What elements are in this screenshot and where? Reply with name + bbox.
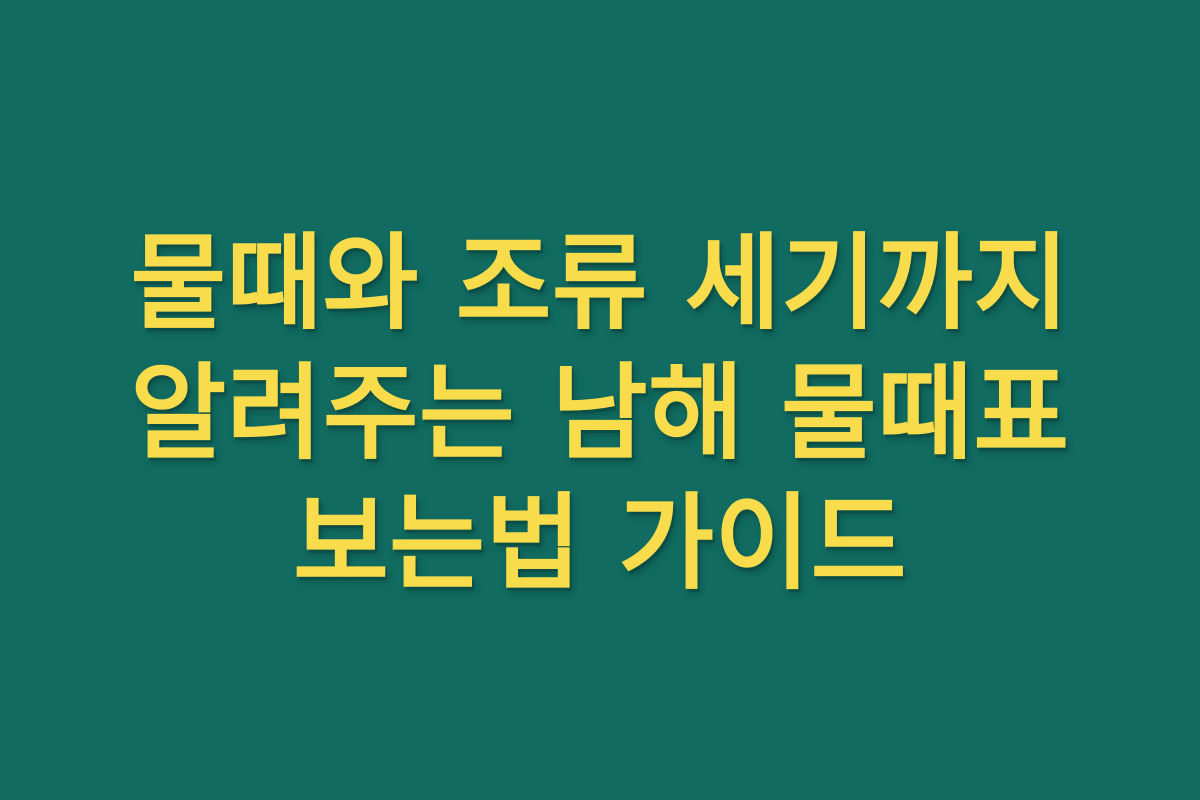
- title-line-1: 물때와 조류 세기까지: [70, 218, 1130, 348]
- title-line-3: 보는법 가이드: [70, 478, 1130, 608]
- thumbnail-banner: 물때와 조류 세기까지 알려주는 남해 물때표 보는법 가이드: [0, 0, 1200, 800]
- title-line-2: 알려주는 남해 물때표: [70, 348, 1130, 478]
- page-title: 물때와 조류 세기까지 알려주는 남해 물때표 보는법 가이드: [70, 192, 1130, 608]
